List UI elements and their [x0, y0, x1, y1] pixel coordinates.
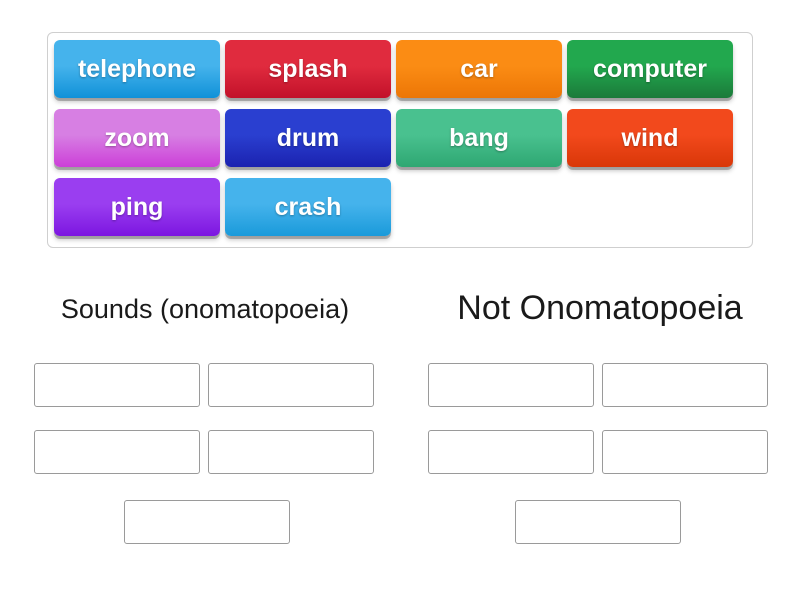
dropzone-not-onomatopoeia-4[interactable]	[602, 430, 768, 474]
word-bank-container: telephone splash car computer zoom drum …	[47, 32, 753, 248]
dropzone-not-onomatopoeia-5[interactable]	[515, 500, 681, 544]
dropzone-sounds-3[interactable]	[34, 430, 200, 474]
word-tile-label: computer	[593, 55, 707, 84]
word-tile-telephone[interactable]: telephone	[54, 40, 220, 98]
word-tile-label: wind	[622, 124, 679, 153]
word-bank-row: telephone splash car computer	[54, 40, 746, 98]
word-tile-label: car	[460, 55, 498, 84]
word-tile-label: zoom	[104, 124, 169, 153]
dropzone-not-onomatopoeia-2[interactable]	[602, 363, 768, 407]
word-tile-label: bang	[449, 124, 509, 153]
word-bank-row: ping crash	[54, 178, 746, 236]
category-title-not-onomatopoeia: Not Onomatopoeia	[405, 291, 795, 325]
word-tile-wind[interactable]: wind	[567, 109, 733, 167]
dropzone-sounds-4[interactable]	[208, 430, 374, 474]
word-tile-computer[interactable]: computer	[567, 40, 733, 98]
dropzone-sounds-5[interactable]	[124, 500, 290, 544]
word-tile-label: crash	[275, 193, 342, 222]
word-tile-splash[interactable]: splash	[225, 40, 391, 98]
dropzone-not-onomatopoeia-3[interactable]	[428, 430, 594, 474]
word-tile-bang[interactable]: bang	[396, 109, 562, 167]
word-tile-label: drum	[277, 124, 340, 153]
word-tile-car[interactable]: car	[396, 40, 562, 98]
word-tile-drum[interactable]: drum	[225, 109, 391, 167]
word-bank-row: zoom drum bang wind	[54, 109, 746, 167]
dropzone-sounds-2[interactable]	[208, 363, 374, 407]
dropzone-sounds-1[interactable]	[34, 363, 200, 407]
word-tile-label: splash	[268, 55, 347, 84]
category-title-sounds: Sounds (onomatopoeia)	[10, 296, 400, 323]
word-tile-ping[interactable]: ping	[54, 178, 220, 236]
word-tile-zoom[interactable]: zoom	[54, 109, 220, 167]
word-tile-label: telephone	[78, 55, 196, 84]
word-tile-label: ping	[111, 193, 164, 222]
dropzone-not-onomatopoeia-1[interactable]	[428, 363, 594, 407]
word-tile-crash[interactable]: crash	[225, 178, 391, 236]
